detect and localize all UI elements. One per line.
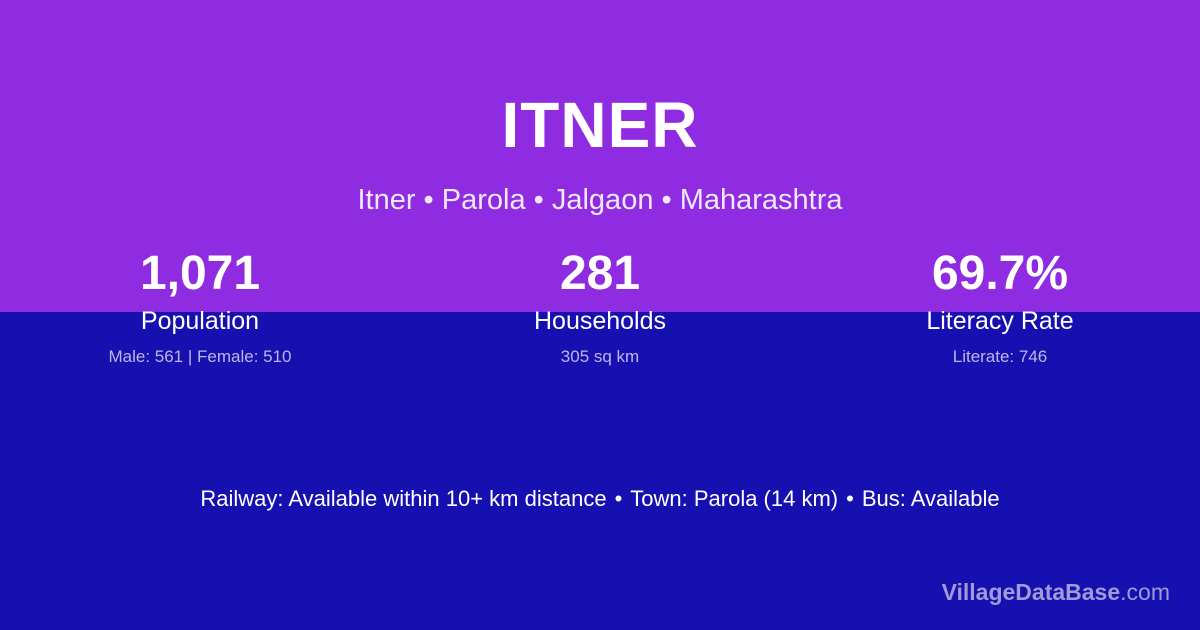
stat-label: Population xyxy=(0,305,400,337)
stat-value: 1,071 xyxy=(0,245,400,303)
facility-separator: • xyxy=(838,486,862,511)
brand-watermark: VillageDataBase.com xyxy=(942,578,1170,606)
stat-sublabel: 305 sq km xyxy=(400,346,800,368)
stat-households: 281 Households 305 sq km xyxy=(400,245,800,368)
stat-sublabel: Male: 561 | Female: 510 xyxy=(0,346,400,368)
brand-name: VillageDataBase xyxy=(942,579,1121,605)
page-title: ITNER xyxy=(0,88,1200,162)
facility-town: Town: Parola (14 km) xyxy=(630,486,838,511)
breadcrumb: Itner • Parola • Jalgaon • Maharashtra xyxy=(0,183,1200,217)
stats-row: 1,071 Population Male: 561 | Female: 510… xyxy=(0,245,1200,368)
stat-population: 1,071 Population Male: 561 | Female: 510 xyxy=(0,245,400,368)
facility-bus: Bus: Available xyxy=(862,486,1000,511)
facility-railway: Railway: Available within 10+ km distanc… xyxy=(200,486,606,511)
stat-value: 281 xyxy=(400,245,800,303)
stat-label: Literacy Rate xyxy=(800,305,1200,337)
stat-label: Households xyxy=(400,305,800,337)
stat-literacy-rate: 69.7% Literacy Rate Literate: 746 xyxy=(800,245,1200,368)
stat-sublabel: Literate: 746 xyxy=(800,346,1200,368)
stat-value: 69.7% xyxy=(800,245,1200,303)
brand-tld: .com xyxy=(1120,579,1170,605)
facilities-line: Railway: Available within 10+ km distanc… xyxy=(0,484,1200,514)
village-info-card: ITNER Itner • Parola • Jalgaon • Maharas… xyxy=(0,0,1200,630)
facility-separator: • xyxy=(607,486,631,511)
